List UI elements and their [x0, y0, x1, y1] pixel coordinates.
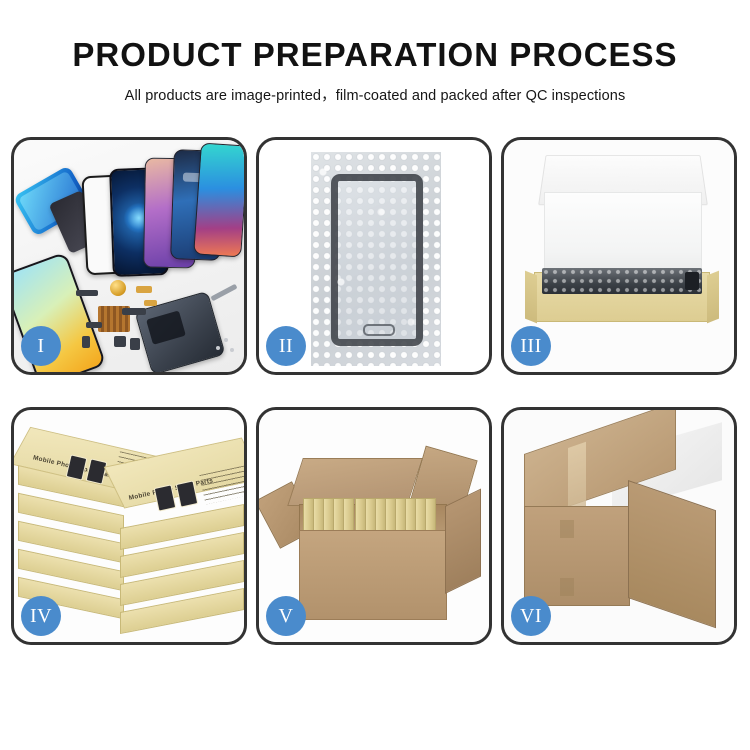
small-chip-icon [82, 336, 90, 348]
process-step-6: VI [501, 407, 737, 645]
page-title: PRODUCT PREPARATION PROCESS [0, 38, 750, 73]
carton-seam-bottom [560, 578, 574, 596]
screw-icon [224, 338, 228, 342]
phone-gradient-wallpaper-icon [193, 142, 244, 257]
screw-icon [216, 346, 220, 350]
step-badge-3: III [511, 326, 551, 366]
speaker-icon [130, 338, 140, 350]
wrapped-screen-in-box-icon [542, 268, 702, 294]
page-subtitle: All products are image-printed，film-coat… [0, 84, 750, 105]
carton-side-face [445, 488, 481, 594]
process-step-grid: I II III [11, 137, 739, 697]
connector-icon [86, 322, 102, 328]
process-step-3: III [501, 137, 737, 375]
bubble-highlights [311, 152, 441, 366]
header: PRODUCT PREPARATION PROCESS All products… [0, 0, 750, 105]
vibration-motor-icon [110, 280, 126, 296]
foam-padding-icon [544, 192, 702, 278]
ribbon-cable-icon [122, 308, 146, 315]
step-badge-5: V [266, 596, 306, 636]
process-step-5: V [256, 407, 492, 645]
bubble-wrap-sheet [311, 152, 441, 366]
product-preparation-infographic: PRODUCT PREPARATION PROCESS All products… [0, 0, 750, 750]
process-step-2: II [256, 137, 492, 375]
carton-seam-top [560, 520, 574, 538]
step-badge-1: I [21, 326, 61, 366]
flex-cable-icon [76, 290, 98, 296]
carton-left-face [524, 506, 630, 606]
step-badge-2: II [266, 326, 306, 366]
process-step-4: Mobile Phone Spare Parts Mobile Phone Sp… [11, 407, 247, 645]
gold-contact-icon [136, 286, 152, 293]
gold-connector-icon [144, 300, 157, 306]
camera-module-icon [114, 336, 126, 347]
step-badge-6: VI [511, 596, 551, 636]
carton-front-face [299, 530, 447, 620]
screw-icon [230, 348, 234, 352]
process-step-1: I [11, 137, 247, 375]
step-badge-4: IV [21, 596, 61, 636]
